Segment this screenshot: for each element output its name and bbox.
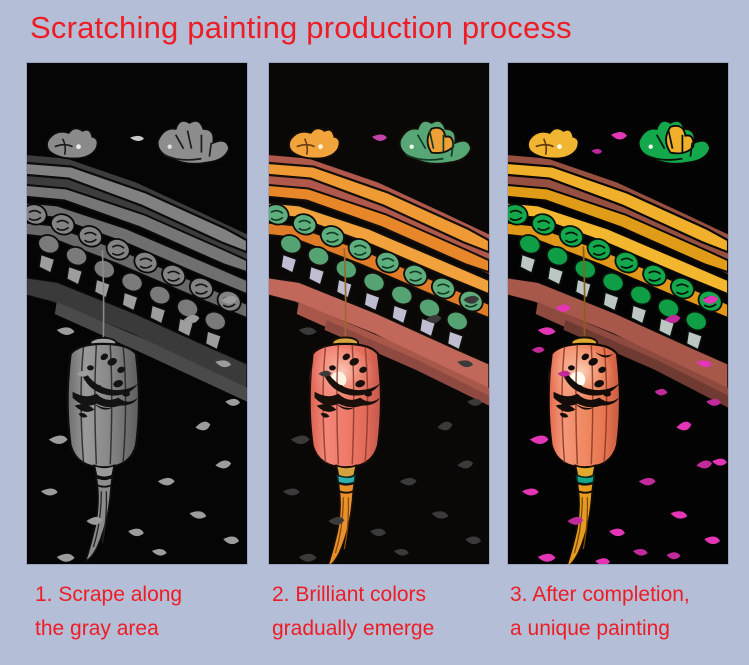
roof-finial-left-3: [528, 128, 579, 158]
caption-line-1: 2. Brilliant colors: [272, 583, 426, 606]
artwork-stage-3: [508, 63, 728, 564]
artwork-stage-1: [27, 63, 247, 564]
process-step-caption-1: 1. Scrape along the gray area: [35, 578, 275, 646]
page-title: Scratching painting production process: [30, 9, 572, 47]
poster-canvas: Scratching painting production process: [0, 0, 749, 665]
process-step-caption-3: 3. After completion, a unique painting: [510, 578, 749, 646]
caption-line-2: gradually emerge: [272, 612, 512, 646]
process-step-image-2: [268, 62, 490, 565]
process-step-caption-2: 2. Brilliant colors gradually emerge: [272, 578, 512, 646]
process-step-image-1: [26, 62, 248, 565]
roof-finial-left-1: [47, 128, 98, 158]
roof-finial-left-2: [289, 128, 340, 158]
caption-line-1: 3. After completion,: [510, 583, 690, 606]
caption-line-1: 1. Scrape along: [35, 583, 182, 606]
process-step-image-3: [507, 62, 729, 565]
artwork-stage-2: [269, 63, 489, 564]
caption-line-2: the gray area: [35, 612, 275, 646]
caption-line-2: a unique painting: [510, 612, 749, 646]
